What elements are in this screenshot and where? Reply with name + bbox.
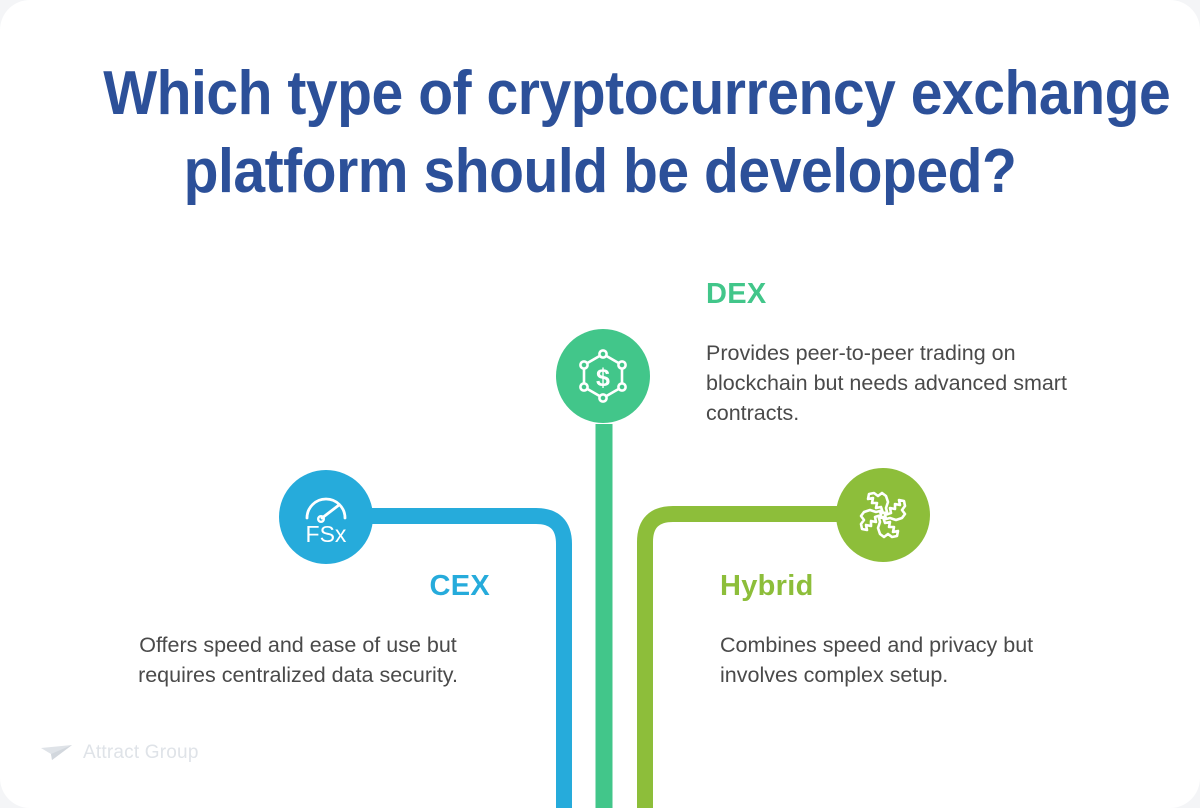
svg-text:$: $ xyxy=(596,364,610,392)
label-cex: CEX xyxy=(280,570,490,603)
description-hybrid: Combines speed and privacy but involves … xyxy=(720,630,1100,690)
speedometer-fsx-icon: FSx xyxy=(295,486,357,548)
brand-logo: Attract Group xyxy=(40,742,199,764)
description-cex: Offers speed and ease of use but require… xyxy=(100,630,496,690)
infographic-card: Which type of cryptocurrency exchange pl… xyxy=(0,0,1200,808)
network-dollar-icon: $ xyxy=(573,346,633,406)
label-hybrid: Hybrid xyxy=(720,570,814,603)
label-dex: DEX xyxy=(706,278,767,311)
svg-text:FSx: FSx xyxy=(306,521,347,547)
node-hybrid[interactable] xyxy=(836,468,930,562)
paper-plane-icon xyxy=(40,743,74,763)
infographic-canvas: Which type of cryptocurrency exchange pl… xyxy=(0,0,1200,808)
brand-logo-text: Attract Group xyxy=(83,742,199,764)
node-dex[interactable]: $ xyxy=(556,329,650,423)
description-dex: Provides peer-to-peer trading on blockch… xyxy=(706,338,1076,428)
node-cex[interactable]: FSx xyxy=(279,470,373,564)
pinwheel-puzzle-icon xyxy=(855,487,911,543)
